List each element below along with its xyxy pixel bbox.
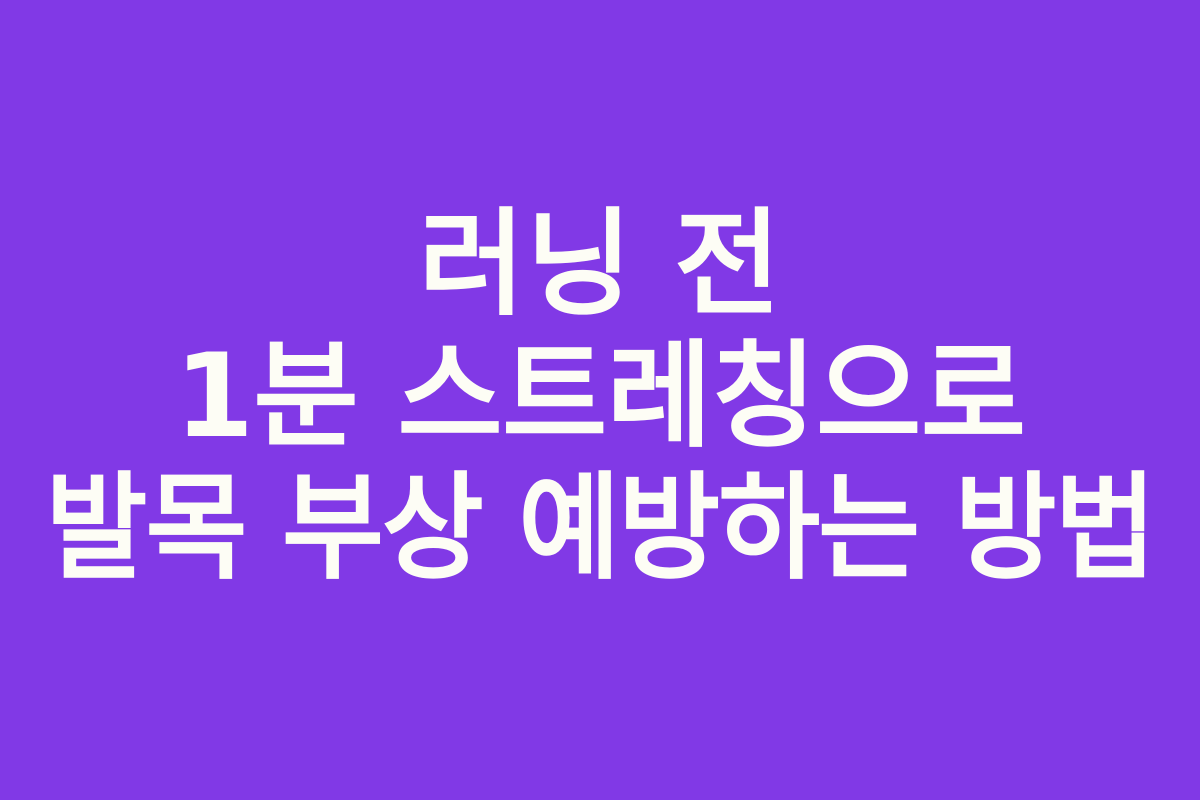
headline-line-3: 발목 부상 예방하는 방법: [40, 463, 1159, 595]
thumbnail-card: 러닝 전 1분 스트레칭으로 발목 부상 예방하는 방법: [0, 0, 1200, 800]
headline-block: 러닝 전 1분 스트레칭으로 발목 부상 예방하는 방법: [0, 199, 1200, 595]
headline-line-1: 러닝 전: [14, 199, 1186, 331]
headline-line-2: 1분 스트레칭으로: [23, 331, 1177, 463]
